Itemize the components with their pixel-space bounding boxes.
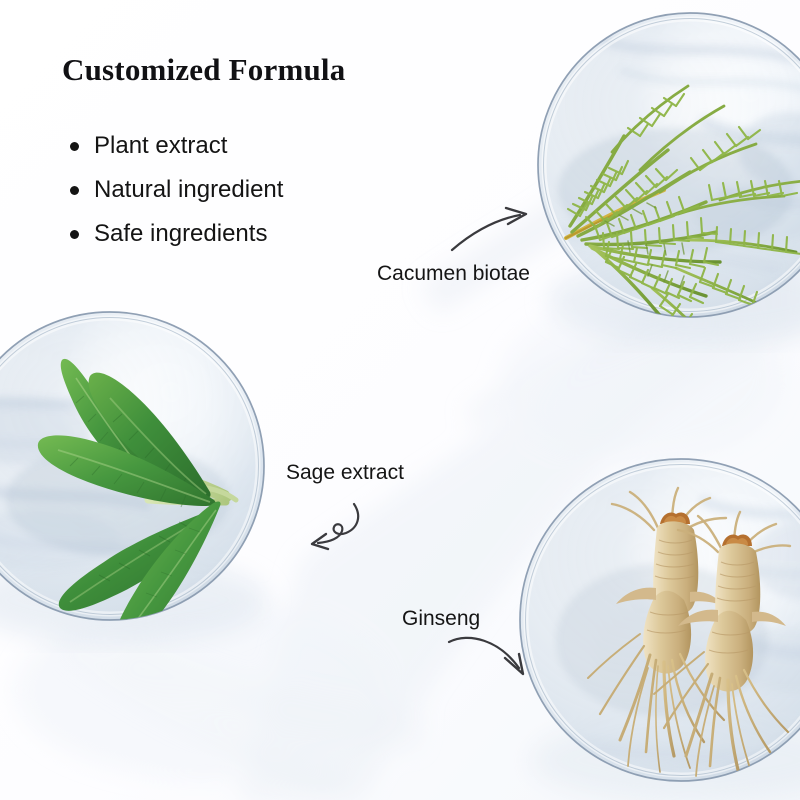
arrow-icon-ginseng bbox=[445, 630, 539, 682]
ingredient-label-ginseng: Ginseng bbox=[402, 607, 480, 631]
list-item-label: Plant extract bbox=[94, 134, 227, 158]
list-item-label: Natural ingredient bbox=[94, 178, 283, 202]
bullet-dot-icon bbox=[70, 142, 79, 151]
list-item: Plant extract bbox=[70, 124, 283, 168]
page-title: Customized Formula bbox=[62, 52, 345, 88]
bullet-dot-icon bbox=[70, 186, 79, 195]
feature-bullet-list: Plant extract Natural ingredient Safe in… bbox=[70, 124, 283, 256]
arrow-icon-cacumen bbox=[446, 206, 542, 256]
ingredient-label-cacumen-biotae: Cacumen biotae bbox=[377, 262, 530, 286]
arrow-icon-sage bbox=[292, 500, 366, 554]
infographic-canvas: Customized Formula Plant extract Natural… bbox=[0, 0, 800, 800]
ingredient-label-sage-extract: Sage extract bbox=[286, 461, 404, 485]
list-item: Safe ingredients bbox=[70, 212, 283, 256]
bullet-dot-icon bbox=[70, 230, 79, 239]
list-item-label: Safe ingredients bbox=[94, 222, 267, 246]
background-scene bbox=[0, 0, 800, 800]
petri-dish-cacumen bbox=[538, 13, 800, 344]
list-item: Natural ingredient bbox=[70, 168, 283, 212]
